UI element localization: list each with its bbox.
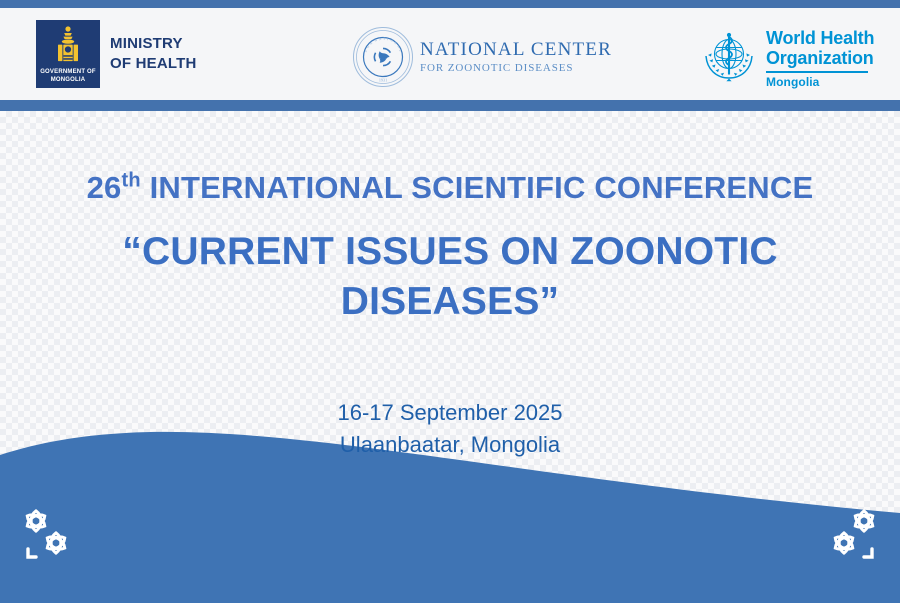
who-rod-of-asclepius-icon bbox=[700, 28, 758, 86]
svg-text:T: T bbox=[383, 37, 385, 41]
conference-title-slide: GOVERNMENT OF MONGOLIA MINISTRY OF HEALT… bbox=[0, 0, 900, 603]
slide-text-block: 26th INTERNATIONAL SCIENTIFIC CONFERENCE… bbox=[0, 111, 900, 461]
event-meta: 16-17 September 2025 Ulaanbaatar, Mongol… bbox=[0, 397, 900, 461]
svg-text:I: I bbox=[387, 37, 389, 41]
event-dates: 16-17 September 2025 bbox=[0, 397, 900, 429]
national-center-name-line2: FOR ZOONOTIC DISEASES bbox=[420, 62, 612, 75]
conference-ordinal-suffix: th bbox=[122, 170, 141, 192]
header-accent-rule bbox=[0, 100, 900, 111]
header-logo-row: GOVERNMENT OF MONGOLIA MINISTRY OF HEALT… bbox=[0, 8, 900, 100]
ministry-name-line1: MINISTRY bbox=[110, 34, 197, 54]
who-country-label: Mongolia bbox=[766, 75, 874, 89]
seal-year-text: 1931 bbox=[379, 77, 387, 82]
conference-label: INTERNATIONAL SCIENTIFIC CONFERENCE bbox=[150, 170, 814, 205]
mongolian-knot-ornament-icon-left bbox=[18, 505, 82, 565]
page-title-line2: DISEASES” bbox=[70, 277, 830, 327]
emblem-text-line1: GOVERNMENT OF bbox=[36, 69, 100, 75]
event-location: Ulaanbaatar, Mongolia bbox=[0, 429, 900, 461]
who-name-line1: World Health bbox=[766, 28, 874, 48]
ministry-of-health-name: MINISTRY OF HEALTH bbox=[110, 34, 197, 75]
page-title-line1: “CURRENT ISSUES ON ZOONOTIC bbox=[70, 227, 830, 277]
who-name-line2: Organization bbox=[766, 48, 874, 68]
top-accent-bar bbox=[0, 0, 900, 8]
who-wordmark: World Health Organization Mongolia bbox=[766, 26, 874, 89]
emblem-text-line2: MONGOLIA bbox=[36, 77, 100, 83]
national-center-logo: F O R N A T I O N A L 1931 N bbox=[352, 26, 612, 88]
ministry-name-line2: OF HEALTH bbox=[110, 54, 197, 74]
conference-heading: 26th INTERNATIONAL SCIENTIFIC CONFERENCE bbox=[0, 171, 900, 205]
mongolian-knot-ornament-icon-right bbox=[818, 505, 882, 565]
soyombo-emblem-icon bbox=[51, 25, 85, 72]
conference-number: 26 bbox=[87, 170, 122, 205]
mongolia-government-emblem: GOVERNMENT OF MONGOLIA bbox=[36, 20, 100, 88]
who-divider bbox=[766, 71, 868, 73]
national-center-name: NATIONAL CENTER FOR ZOONOTIC DISEASES bbox=[420, 39, 612, 74]
page-title: “CURRENT ISSUES ON ZOONOTIC DISEASES” bbox=[0, 227, 900, 327]
nczd-circular-seal-icon: F O R N A T I O N A L 1931 bbox=[352, 26, 414, 88]
national-center-name-line1: NATIONAL CENTER bbox=[420, 39, 612, 61]
who-logo: World Health Organization Mongolia bbox=[700, 26, 874, 89]
svg-text:F: F bbox=[364, 49, 368, 53]
ministry-of-health-logo: GOVERNMENT OF MONGOLIA MINISTRY OF HEALT… bbox=[36, 20, 197, 88]
